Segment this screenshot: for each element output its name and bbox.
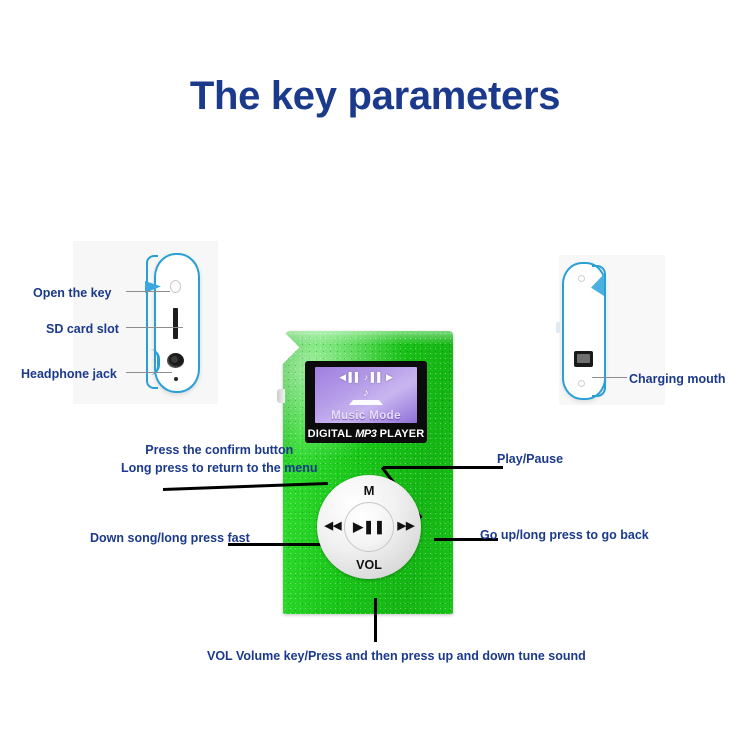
leader-open-the-key bbox=[126, 291, 170, 292]
play-pause-button-label[interactable]: ▶❚❚ bbox=[344, 520, 394, 533]
screen-bezel: ◀ ▌▌ ♪ ▌▌ ▶ ♪ Music Mode DIGITAL MP3 PLA… bbox=[305, 361, 427, 443]
leader-charging-mouth bbox=[592, 377, 627, 378]
control-wheel[interactable]: M VOL ◀◀ ▶▶ ▶❚❚ bbox=[317, 475, 421, 579]
leader-headphone-jack bbox=[126, 372, 172, 373]
callout-press-confirm-line2: Long press to return to the menu bbox=[121, 459, 318, 477]
label-open-the-key: Open the key bbox=[33, 284, 112, 302]
next-button-label[interactable]: ▶▶ bbox=[396, 521, 416, 532]
right-device-illustration bbox=[562, 262, 622, 402]
callout-press-confirm: Press the confirm button Long press to r… bbox=[121, 441, 318, 477]
previous-button-label[interactable]: ◀◀ bbox=[323, 521, 343, 532]
side-edge-mark bbox=[556, 322, 560, 333]
menu-button-label[interactable]: M bbox=[317, 484, 421, 497]
lcd-screen: ◀ ▌▌ ♪ ▌▌ ▶ ♪ Music Mode bbox=[315, 367, 417, 423]
screw-icon-bottom bbox=[578, 380, 585, 387]
music-note-icon: ♪ bbox=[315, 387, 417, 399]
callout-down-song: Down song/long press fast bbox=[90, 529, 250, 547]
page-title: The key parameters bbox=[0, 74, 750, 119]
callout-go-up: Go up/long press to go back bbox=[480, 526, 649, 544]
reset-pinhole-icon bbox=[174, 377, 178, 381]
callout-play-pause: Play/Pause bbox=[497, 450, 563, 468]
brand-prefix: DIGITAL bbox=[308, 428, 352, 440]
body-highlight bbox=[283, 331, 453, 345]
callout-vol-key: VOL Volume key/Press and then press up a… bbox=[207, 647, 586, 665]
label-sd-card-slot: SD card slot bbox=[46, 320, 119, 338]
screw-icon-top bbox=[578, 275, 585, 282]
callout-press-confirm-line1: Press the confirm button bbox=[121, 441, 318, 459]
usb-port-inner bbox=[577, 354, 590, 363]
leader-vol-vertical bbox=[374, 598, 377, 642]
slide-canvas: The key parameters Open the key SD card … bbox=[0, 0, 750, 750]
label-charging-mouth: Charging mouth bbox=[629, 370, 726, 388]
note-platform-icon bbox=[349, 400, 383, 405]
brand-text: DIGITAL MP3 PLAYER bbox=[305, 428, 427, 440]
volume-button-label[interactable]: VOL bbox=[317, 559, 421, 572]
sd-card-slot-icon bbox=[173, 308, 178, 339]
headphone-jack-inner bbox=[171, 356, 178, 363]
label-headphone-jack: Headphone jack bbox=[21, 365, 117, 383]
open-key-hole-icon bbox=[170, 280, 181, 293]
screen-icon-row: ◀ ▌▌ ♪ ▌▌ ▶ bbox=[315, 372, 417, 383]
side-button[interactable] bbox=[277, 389, 285, 403]
screen-mode-text: Music Mode bbox=[315, 410, 417, 422]
brand-mp3: MP3 bbox=[355, 428, 376, 440]
leader-sd-card-slot bbox=[126, 327, 183, 328]
brand-suffix: PLAYER bbox=[380, 428, 425, 440]
leader-play-pause-horizontal bbox=[383, 466, 503, 469]
